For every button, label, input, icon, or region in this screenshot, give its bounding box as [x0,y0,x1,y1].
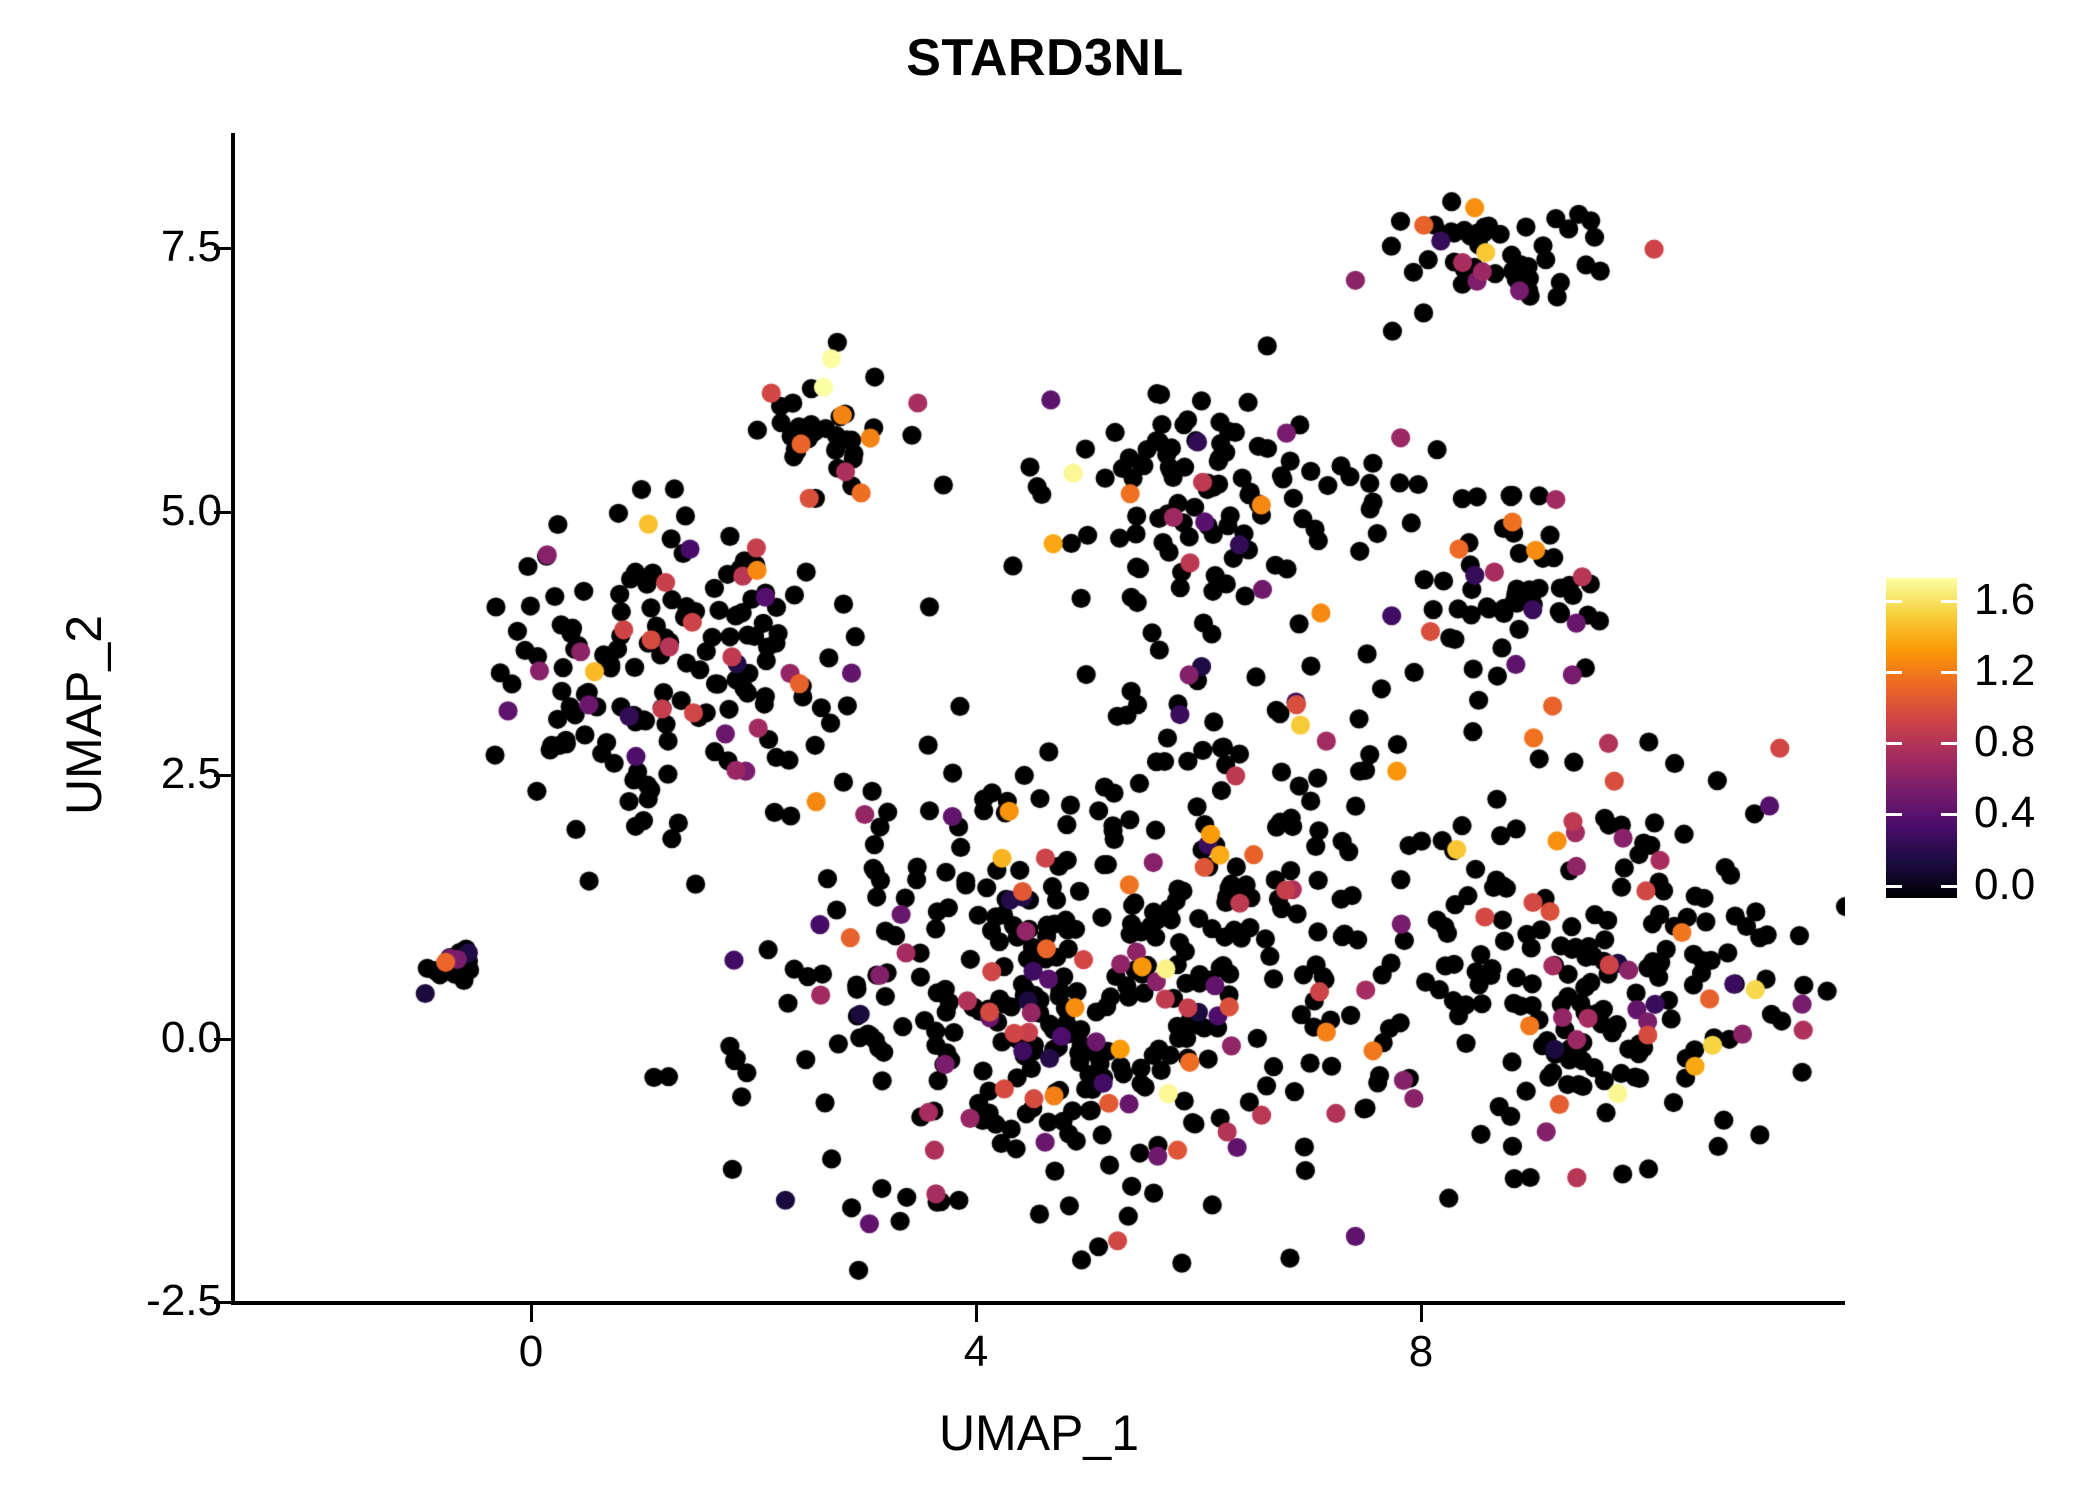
legend-tick-mark [1941,813,1957,816]
x-tick-label: 0 [471,1330,591,1374]
legend-tick-mark [1886,813,1902,816]
legend-tick-label: 0.0 [1974,863,2035,907]
legend-tick-mark [1941,671,1957,674]
legend-tick-mark [1941,885,1957,888]
plot-title-text: STARD3NL [906,28,1183,88]
x-axis-line [231,1301,1845,1305]
legend-colorbar [1886,578,1957,898]
legend-tick-mark [1886,742,1902,745]
x-tick-label: 4 [916,1330,1036,1374]
plot-root: STARD3NL 7.55.02.50.0-2.5 048 UMAP_1 UMA… [0,0,2100,1500]
legend-tick-label: 1.6 [1974,578,2035,622]
y-axis-title: UMAP_2 [55,129,113,1301]
x-tick-label: 8 [1361,1330,1481,1374]
x-tick-mark [975,1305,978,1322]
legend-tick-label: 1.2 [1974,649,2035,693]
y-tick-label: 7.5 [161,225,222,269]
legend-tick-label: 0.4 [1974,791,2035,835]
y-tick-label: -2.5 [146,1279,222,1323]
y-tick-label: 2.5 [161,752,222,796]
y-tick-label: 0.0 [161,1016,222,1060]
plot-panel [233,133,1845,1305]
legend-tick-mark [1886,885,1902,888]
scatter-plot-canvas [233,133,1845,1305]
y-tick-label: 5.0 [161,489,222,533]
x-tick-mark [530,1305,533,1322]
legend-tick-mark [1941,742,1957,745]
y-axis-line [231,133,235,1305]
legend-tick-mark [1886,600,1902,603]
legend-tick-mark [1886,671,1902,674]
x-axis-title: UMAP_1 [233,1404,1845,1462]
page-title: STARD3NL [0,28,2100,88]
x-tick-mark [1420,1305,1423,1322]
legend-tick-label: 0.8 [1974,720,2035,764]
color-legend: 1.61.20.80.40.0 [1886,578,2076,898]
legend-tick-mark [1941,600,1957,603]
